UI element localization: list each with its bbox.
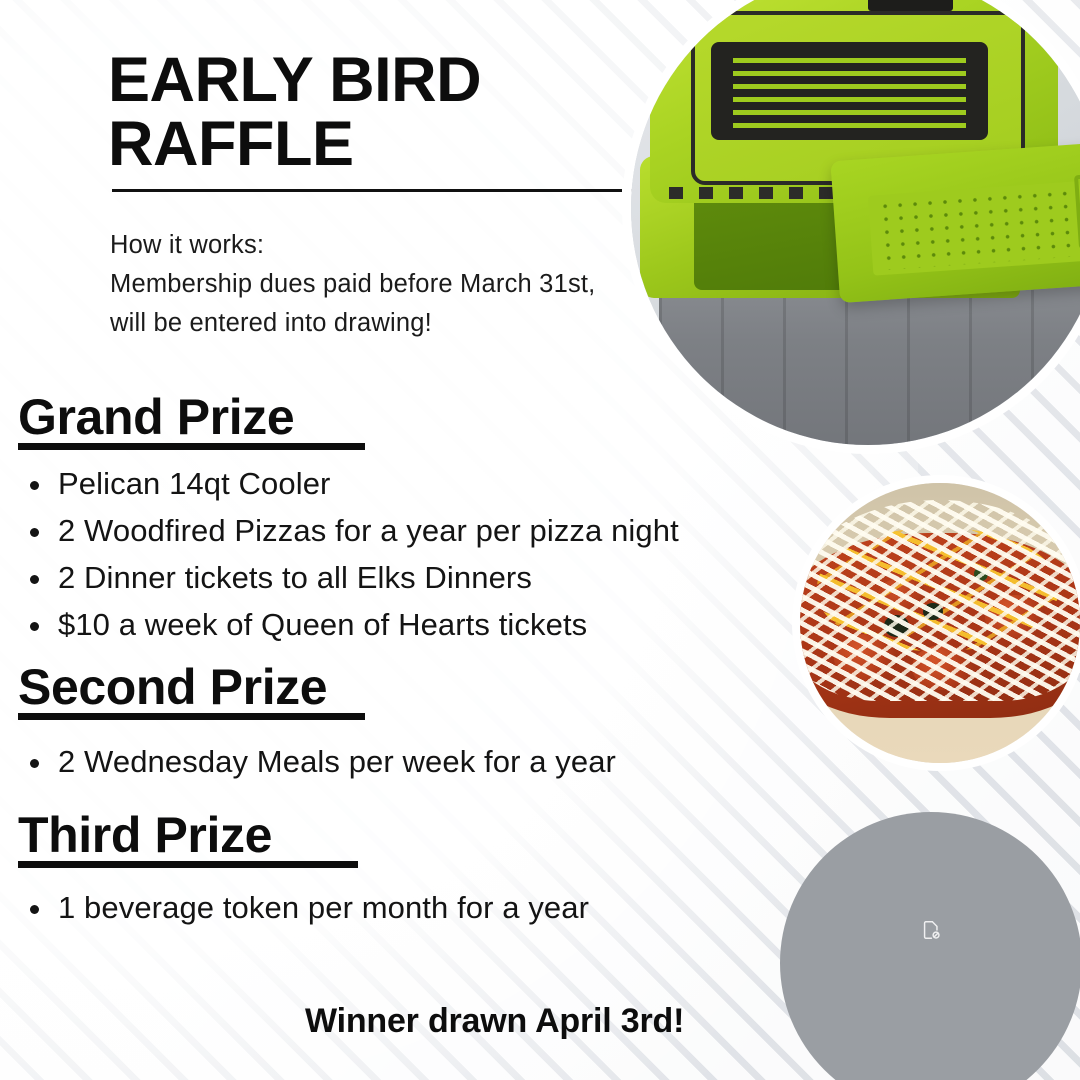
cooler-tray <box>830 141 1080 303</box>
pizza-photo <box>792 475 1080 771</box>
second-prize-list: 2 Wednesday Meals per week for a year <box>18 738 616 785</box>
title-divider <box>112 189 622 192</box>
grand-prize-underline <box>18 443 365 450</box>
second-prize-underline <box>18 713 365 720</box>
list-item: 1 beverage token per month for a year <box>18 884 589 931</box>
list-item: Pelican 14qt Cooler <box>18 460 679 507</box>
second-prize-heading: Second Prize <box>18 662 327 712</box>
third-prize-list: 1 beverage token per month for a year <box>18 884 589 931</box>
grand-prize-heading: Grand Prize <box>18 392 294 442</box>
third-prize-underline <box>18 861 358 868</box>
list-item: 2 Dinner tickets to all Elks Dinners <box>18 554 679 601</box>
list-item: $10 a week of Queen of Hearts tickets <box>18 601 679 648</box>
list-item: 2 Wednesday Meals per week for a year <box>18 738 616 785</box>
third-prize-heading: Third Prize <box>18 810 272 860</box>
how-it-works-text: How it works: Membership dues paid befor… <box>110 226 610 342</box>
cooler-photo <box>622 0 1080 454</box>
broken-image-icon <box>920 919 942 941</box>
grand-prize-list: Pelican 14qt Cooler 2 Woodfired Pizzas f… <box>18 460 679 648</box>
pizza-illustration <box>800 483 1080 763</box>
list-item: 2 Woodfired Pizzas for a year per pizza … <box>18 507 679 554</box>
cooler-vent-panel <box>711 42 988 140</box>
raffle-flyer: EARLY BIRD RAFFLE How it works: Membersh… <box>0 0 1080 1080</box>
cooler-latch <box>868 0 953 11</box>
cooler-illustration <box>631 0 1080 445</box>
page-title: EARLY BIRD RAFFLE <box>108 48 668 177</box>
cooler-tray-perforations <box>868 181 1080 275</box>
pizza-mozzarella-shreds <box>792 500 1080 702</box>
winner-drawn-note: Winner drawn April 3rd! <box>305 1002 684 1041</box>
